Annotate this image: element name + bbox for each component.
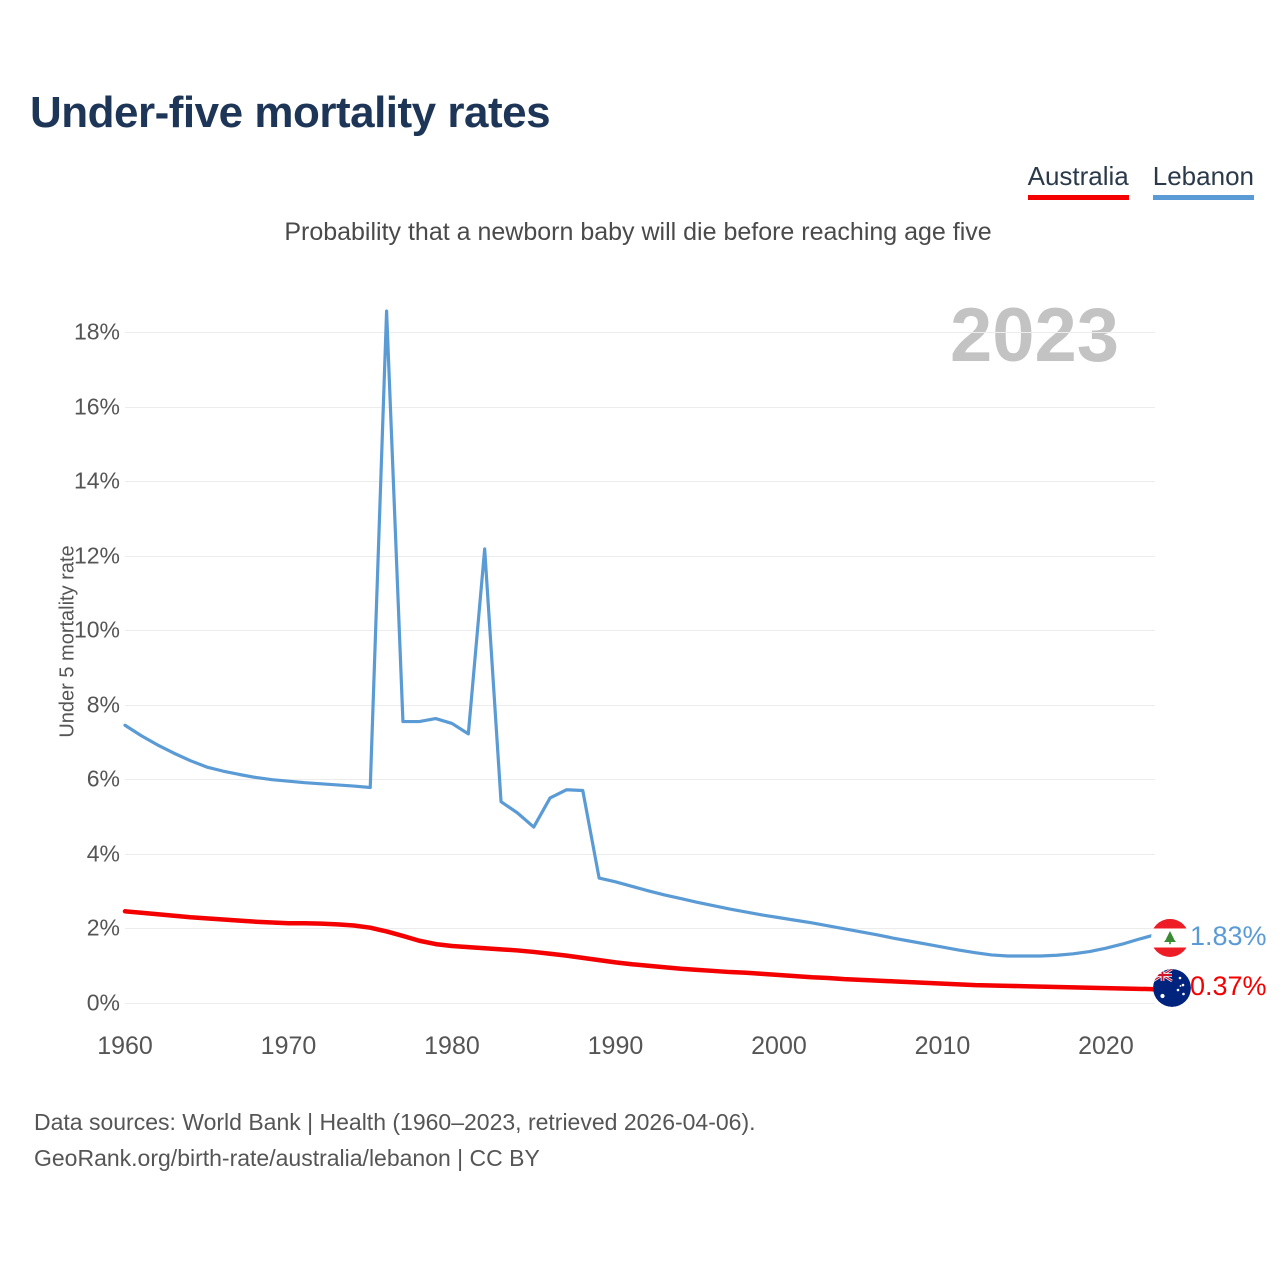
australia-flag-icon bbox=[1153, 969, 1191, 1007]
chart-page: Under-five mortality rates Australia Leb… bbox=[0, 0, 1280, 1280]
legend-item-lebanon[interactable]: Lebanon bbox=[1153, 163, 1254, 200]
y-tick-label: 14% bbox=[74, 468, 120, 495]
chart-subtitle-text: Probability that a newborn baby will die… bbox=[284, 218, 991, 247]
x-tick-label: 1960 bbox=[97, 1032, 153, 1061]
y-tick-label: 18% bbox=[74, 319, 120, 346]
gridline bbox=[125, 332, 1155, 333]
y-tick-label: 12% bbox=[74, 542, 120, 569]
page-title: Under-five mortality rates bbox=[30, 88, 550, 138]
y-tick-label: 8% bbox=[87, 691, 120, 718]
lebanon-flag-icon bbox=[1151, 919, 1189, 957]
year-watermark: 2023 bbox=[950, 292, 1119, 379]
series-line-lebanon bbox=[125, 311, 1155, 956]
legend: Australia Lebanon bbox=[1028, 163, 1254, 200]
y-tick-label: 6% bbox=[87, 766, 120, 793]
series-line-australia bbox=[125, 911, 1155, 989]
chart-subtitle: Probability that a newborn baby will die… bbox=[0, 218, 1280, 247]
gridline bbox=[125, 481, 1155, 482]
y-tick-label: 4% bbox=[87, 840, 120, 867]
footer-line-attribution: GeoRank.org/birth-rate/australia/lebanon… bbox=[34, 1141, 756, 1177]
x-tick-label: 1970 bbox=[261, 1032, 317, 1061]
gridline bbox=[125, 928, 1155, 929]
y-tick-label: 10% bbox=[74, 617, 120, 644]
gridline bbox=[125, 705, 1155, 706]
gridline bbox=[125, 556, 1155, 557]
lebanon-end-value: 1.83% bbox=[1190, 921, 1267, 952]
gridline bbox=[125, 854, 1155, 855]
footer-line-sources: Data sources: World Bank | Health (1960–… bbox=[34, 1105, 756, 1141]
y-tick-label: 0% bbox=[87, 990, 120, 1017]
gridline bbox=[125, 1003, 1155, 1004]
australia-end-value: 0.37% bbox=[1190, 971, 1267, 1002]
x-tick-label: 2020 bbox=[1078, 1032, 1134, 1061]
x-tick-label: 1980 bbox=[424, 1032, 480, 1061]
y-tick-label: 16% bbox=[74, 393, 120, 420]
x-tick-label: 2000 bbox=[751, 1032, 807, 1061]
gridline bbox=[125, 630, 1155, 631]
gridline bbox=[125, 779, 1155, 780]
legend-item-australia[interactable]: Australia bbox=[1028, 163, 1129, 200]
y-tick-label: 2% bbox=[87, 915, 120, 942]
x-tick-label: 1990 bbox=[588, 1032, 644, 1061]
x-tick-label: 2010 bbox=[915, 1032, 971, 1061]
footer: Data sources: World Bank | Health (1960–… bbox=[34, 1105, 756, 1176]
gridline bbox=[125, 407, 1155, 408]
